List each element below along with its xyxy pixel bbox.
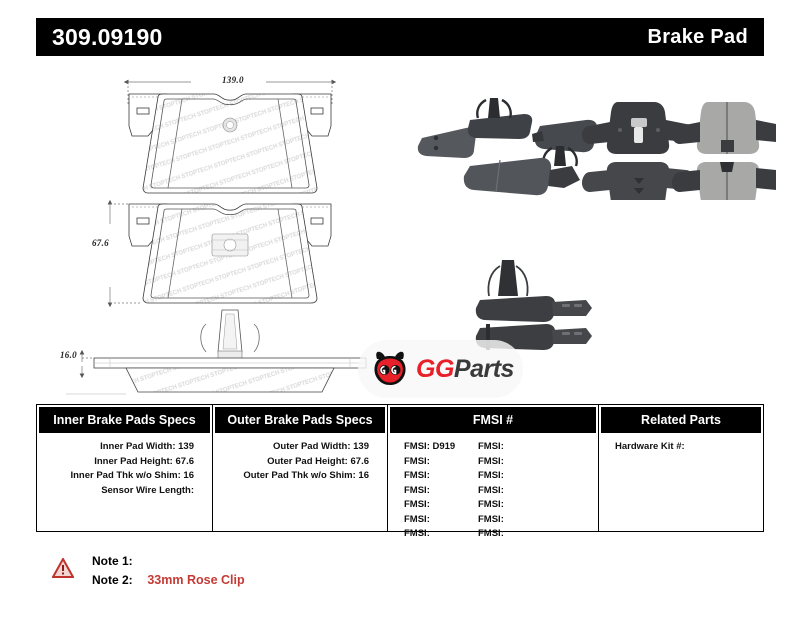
fmsi-label: FMSI: xyxy=(404,456,430,467)
column-body-inner: Inner Pad Width: 139 Inner Pad Height: 6… xyxy=(37,435,212,498)
column-fmsi: FMSI # FMSI: D919 FMSI: FMSI: xyxy=(387,405,598,531)
fmsi-label: FMSI: xyxy=(404,514,430,525)
note-label: Note 1: xyxy=(92,552,144,571)
fmsi-label: FMSI: xyxy=(478,441,504,452)
dimension-label-height: 67.6 xyxy=(92,238,109,248)
note-row-1: Note 1: xyxy=(92,552,245,571)
spec-value: 16 xyxy=(183,470,194,481)
pad-photo-bottom-right xyxy=(672,162,776,200)
fmsi-sub-column-left: FMSI: D919 FMSI: FMSI: FMSI: xyxy=(404,440,478,542)
column-header-outer: Outer Brake Pads Specs xyxy=(215,407,385,433)
pad-drawing-middle xyxy=(129,204,331,303)
watermark-brand-gg: GG xyxy=(416,355,454,383)
column-header-related: Related Parts xyxy=(601,407,761,433)
dimension-label-thickness: 16.0 xyxy=(60,350,77,360)
spec-row: Inner Pad Height: 67.6 xyxy=(37,455,212,470)
column-inner-specs: Inner Brake Pads Specs Inner Pad Width: … xyxy=(37,405,212,531)
note-row-2: Note 2: 33mm Rose Clip xyxy=(92,571,245,590)
fmsi-label: FMSI: xyxy=(478,499,504,510)
related-label: Hardware Kit #: xyxy=(615,441,685,452)
notes-lines: Note 1: Note 2: 33mm Rose Clip xyxy=(92,552,245,590)
fmsi-label: FMSI: xyxy=(478,485,504,496)
ggparts-watermark: GGParts xyxy=(358,340,523,398)
header-bar: 309.09190 Brake Pad xyxy=(36,18,764,56)
spec-value: 16 xyxy=(358,470,369,481)
fmsi-row: FMSI: xyxy=(404,455,478,470)
fmsi-label: FMSI: xyxy=(478,470,504,481)
fmsi-label: FMSI: xyxy=(404,485,430,496)
note-value: 33mm Rose Clip xyxy=(147,573,244,587)
spec-value: 139 xyxy=(178,441,194,452)
fmsi-row: FMSI: xyxy=(404,513,478,528)
fmsi-label: FMSI: xyxy=(478,456,504,467)
spec-row: Outer Pad Height: 67.6 xyxy=(213,455,387,470)
fmsi-label: FMSI: xyxy=(404,499,430,510)
fmsi-label: FMSI: xyxy=(404,528,430,539)
dimension-label-width: 139.0 xyxy=(222,75,244,85)
column-outer-specs: Outer Brake Pads Specs Outer Pad Width: … xyxy=(212,405,387,531)
column-related-parts: Related Parts Hardware Kit #: xyxy=(598,405,763,531)
fmsi-label: FMSI: xyxy=(404,470,430,481)
spec-label: Inner Pad Width: xyxy=(100,441,175,452)
column-body-fmsi: FMSI: D919 FMSI: FMSI: FMSI: xyxy=(388,435,598,542)
fmsi-label: FMSI: xyxy=(404,441,430,452)
pad-drawing-edge xyxy=(94,310,366,392)
fmsi-row: FMSI: xyxy=(478,498,552,513)
column-body-outer: Outer Pad Width: 139 Outer Pad Height: 6… xyxy=(213,435,387,484)
product-photo-pad-set xyxy=(576,80,776,200)
fmsi-row: FMSI: xyxy=(404,498,478,513)
fmsi-label: FMSI: xyxy=(478,528,504,539)
spec-row: Inner Pad Thk w/o Shim: 16 xyxy=(37,469,212,484)
spec-row: Sensor Wire Length: xyxy=(37,484,212,499)
fmsi-row: FMSI: xyxy=(478,440,552,455)
fmsi-row: FMSI: xyxy=(478,484,552,499)
warning-triangle-icon xyxy=(52,558,74,578)
page-title: Brake Pad xyxy=(647,26,748,49)
spec-label: Outer Pad Thk w/o Shim: xyxy=(243,470,355,481)
spec-value: 67.6 xyxy=(351,456,370,467)
spec-row: Outer Pad Width: 139 xyxy=(213,440,387,455)
column-header-inner: Inner Brake Pads Specs xyxy=(39,407,210,433)
spec-label: Sensor Wire Length: xyxy=(101,485,194,496)
fmsi-row: FMSI: xyxy=(404,484,478,499)
spec-label: Inner Pad Height: xyxy=(94,456,173,467)
product-spec-sheet: 309.09190 Brake Pad STOPTECH xyxy=(0,0,800,619)
spec-row: Outer Pad Thk w/o Shim: 16 xyxy=(213,469,387,484)
fmsi-value: D919 xyxy=(433,441,456,452)
notes-section: Note 1: Note 2: 33mm Rose Clip xyxy=(52,552,245,590)
spec-row: Inner Pad Width: 139 xyxy=(37,440,212,455)
fmsi-row: FMSI: xyxy=(478,469,552,484)
fmsi-row: FMSI: xyxy=(478,455,552,470)
pad-photo-top-right xyxy=(672,102,776,154)
related-row: Hardware Kit #: xyxy=(615,440,763,455)
note-label: Note 2: xyxy=(92,571,144,590)
pad-drawing-top xyxy=(129,94,331,193)
fmsi-row: FMSI: xyxy=(404,469,478,484)
watermark-brand-parts: Parts xyxy=(454,355,514,383)
drawing-area: STOPTECH xyxy=(36,62,764,397)
spec-value: 67.6 xyxy=(176,456,195,467)
spec-label: Inner Pad Thk w/o Shim: xyxy=(70,470,180,481)
watermark-brand-text: GGParts xyxy=(416,355,514,384)
spec-label: Outer Pad Height: xyxy=(267,456,348,467)
spec-label: Outer Pad Width: xyxy=(273,441,351,452)
fmsi-row: FMSI: xyxy=(478,513,552,528)
fmsi-row: FMSI: xyxy=(478,527,552,542)
specs-table: Inner Brake Pads Specs Inner Pad Width: … xyxy=(36,404,764,532)
spec-value: 139 xyxy=(353,441,369,452)
part-number: 309.09190 xyxy=(52,24,163,51)
column-header-fmsi: FMSI # xyxy=(390,407,596,433)
ggparts-cat-logo-icon xyxy=(370,350,410,388)
column-body-related: Hardware Kit #: xyxy=(599,435,763,455)
fmsi-row: FMSI: D919 xyxy=(404,440,478,455)
fmsi-row: FMSI: xyxy=(404,527,478,542)
fmsi-sub-column-right: FMSI: FMSI: FMSI: FMSI: xyxy=(478,440,552,542)
fmsi-label: FMSI: xyxy=(478,514,504,525)
